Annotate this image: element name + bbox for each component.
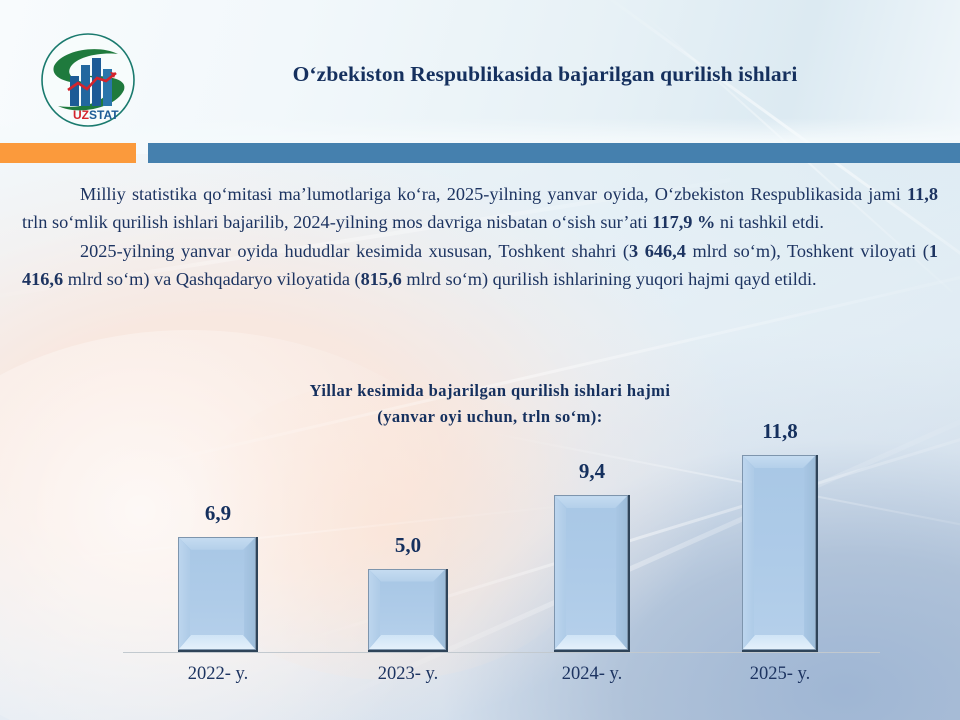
chart-bar-bevel-right: [244, 538, 255, 649]
bar-chart-plot: 6,92022- y.5,02023- y.9,42024- y.11,8202…: [0, 418, 960, 720]
chart-bar-face: [380, 582, 434, 635]
chart-value-label: 5,0: [348, 533, 468, 558]
chart-bar-body: [368, 569, 446, 650]
slide-canvas: UZ STAT O‘zbekiston Respublikasida bajar…: [0, 0, 960, 720]
slide-title: O‘zbekiston Respublikasida bajarilgan qu…: [150, 62, 940, 87]
chart-bar-face: [566, 508, 616, 635]
paragraph-2: 2025-yilning yanvar oyida hududlar kesim…: [22, 237, 938, 294]
chart-bar-body: [178, 537, 256, 650]
chart-category-label: 2022- y.: [148, 664, 288, 685]
chart-bar-bevel-right: [434, 570, 445, 649]
paragraph-1: Milliy statistika qo‘mitasi ma’lumotlari…: [22, 180, 938, 237]
chart-bar-body: [742, 455, 816, 650]
chart-bar-body: [554, 495, 628, 650]
chart-value-label: 9,4: [532, 459, 652, 484]
chart-value-label: 11,8: [720, 419, 840, 444]
logo-stat-text: STAT: [89, 108, 119, 122]
chart-category-label: 2024- y.: [522, 664, 662, 685]
chart-bar-face: [190, 550, 244, 635]
uzstat-logo: UZ STAT: [40, 32, 136, 128]
chart-category-label: 2025- y.: [710, 664, 850, 685]
chart-bar-face: [754, 468, 804, 635]
chart-bar-bevel-left: [555, 496, 566, 649]
chart-axis-line: [123, 652, 880, 653]
divider-bar-orange: [0, 143, 136, 163]
body-text: Milliy statistika qo‘mitasi ma’lumotlari…: [22, 180, 938, 294]
chart-bar-bevel-left: [743, 456, 754, 649]
chart-category-label: 2023- y.: [338, 664, 478, 685]
chart-bar-bevel-right: [616, 496, 627, 649]
chart-title-line-1: Yillar kesimida bajarilgan qurilish ishl…: [110, 378, 870, 404]
chart-bar: [742, 455, 818, 652]
chart-bar-bevel-right: [804, 456, 815, 649]
chart-bar-bevel-left: [179, 538, 190, 649]
divider-bar-blue: [148, 143, 960, 163]
logo-uz-text: UZ: [73, 108, 89, 122]
chart-bar: [554, 495, 630, 652]
chart-bar: [368, 569, 448, 652]
chart-bar: [178, 537, 258, 652]
chart-value-label: 6,9: [158, 501, 278, 526]
chart-bar-bevel-left: [369, 570, 380, 649]
